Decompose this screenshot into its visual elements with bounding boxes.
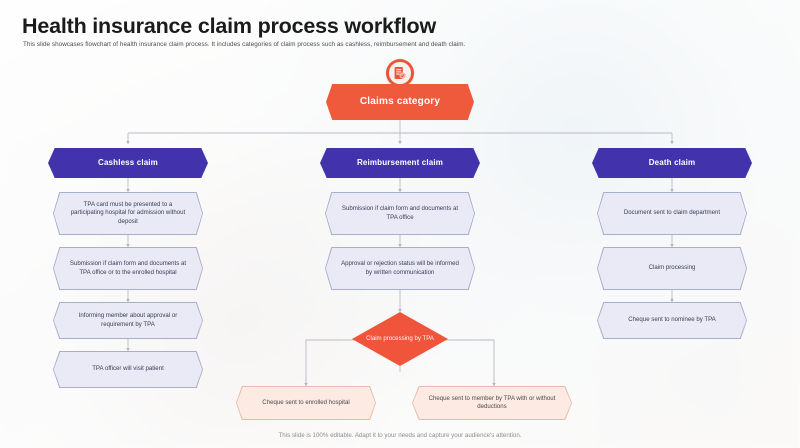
root-node-claims-category[interactable]: Claims category [326, 84, 474, 120]
outcome-node-label: Cheque sent to member by TPA with or wit… [413, 387, 571, 419]
category-header-death[interactable]: Death claim [592, 148, 752, 178]
root-node-label: Claims category [360, 95, 440, 108]
step-node-reimbursement-2[interactable]: Approval or rejection status will be inf… [325, 247, 475, 290]
step-node-label: TPA officer will visit patient [54, 352, 202, 387]
category-header-label: Cashless claim [98, 158, 158, 169]
document-glyph [393, 66, 406, 80]
step-node-label: TPA card must be presented to a particip… [54, 193, 202, 234]
decision-node-claim-processing[interactable]: Claim processing by TPA [352, 312, 448, 366]
step-node-cashless-3[interactable]: Informing member about approval or requi… [53, 302, 203, 339]
page-subtitle: This slide showcases flowchart of health… [23, 41, 465, 48]
step-node-reimbursement-1[interactable]: Submission if claim form and documents a… [325, 192, 475, 235]
category-header-label: Reimbursement claim [357, 158, 443, 169]
category-header-label: Death claim [649, 158, 696, 169]
decision-node-label: Claim processing by TPA [366, 335, 434, 343]
step-node-label: Informing member about approval or requi… [54, 303, 202, 338]
step-node-label: Approval or rejection status will be inf… [326, 248, 474, 289]
outcome-node-label: Cheque sent to enrolled hospital [237, 387, 375, 419]
claim-document-icon [386, 59, 414, 87]
step-node-death-3[interactable]: Cheque sent to nominee by TPA [597, 302, 747, 339]
outcome-node-member-cheque[interactable]: Cheque sent to member by TPA with or wit… [412, 386, 572, 420]
step-node-cashless-4[interactable]: TPA officer will visit patient [53, 351, 203, 388]
category-header-reimbursement[interactable]: Reimbursement claim [320, 148, 480, 178]
step-node-cashless-1[interactable]: TPA card must be presented to a particip… [53, 192, 203, 235]
step-node-label: Cheque sent to nominee by TPA [598, 303, 746, 338]
step-node-cashless-2[interactable]: Submission if claim form and documents a… [53, 247, 203, 290]
step-node-label: Submission if claim form and documents a… [326, 193, 474, 234]
outcome-node-enrolled-hospital[interactable]: Cheque sent to enrolled hospital [236, 386, 376, 420]
step-node-label: Claim processing [598, 248, 746, 289]
page-title: Health insurance claim process workflow [22, 14, 436, 39]
step-node-death-2[interactable]: Claim processing [597, 247, 747, 290]
category-header-cashless[interactable]: Cashless claim [48, 148, 208, 178]
slide-canvas: Health insurance claim process workflow … [0, 0, 800, 448]
step-node-label: Document sent to claim department [598, 193, 746, 234]
step-node-death-1[interactable]: Document sent to claim department [597, 192, 747, 235]
step-node-label: Submission if claim form and documents a… [54, 248, 202, 289]
editable-note: This slide is 100% editable. Adapt it to… [0, 432, 800, 439]
